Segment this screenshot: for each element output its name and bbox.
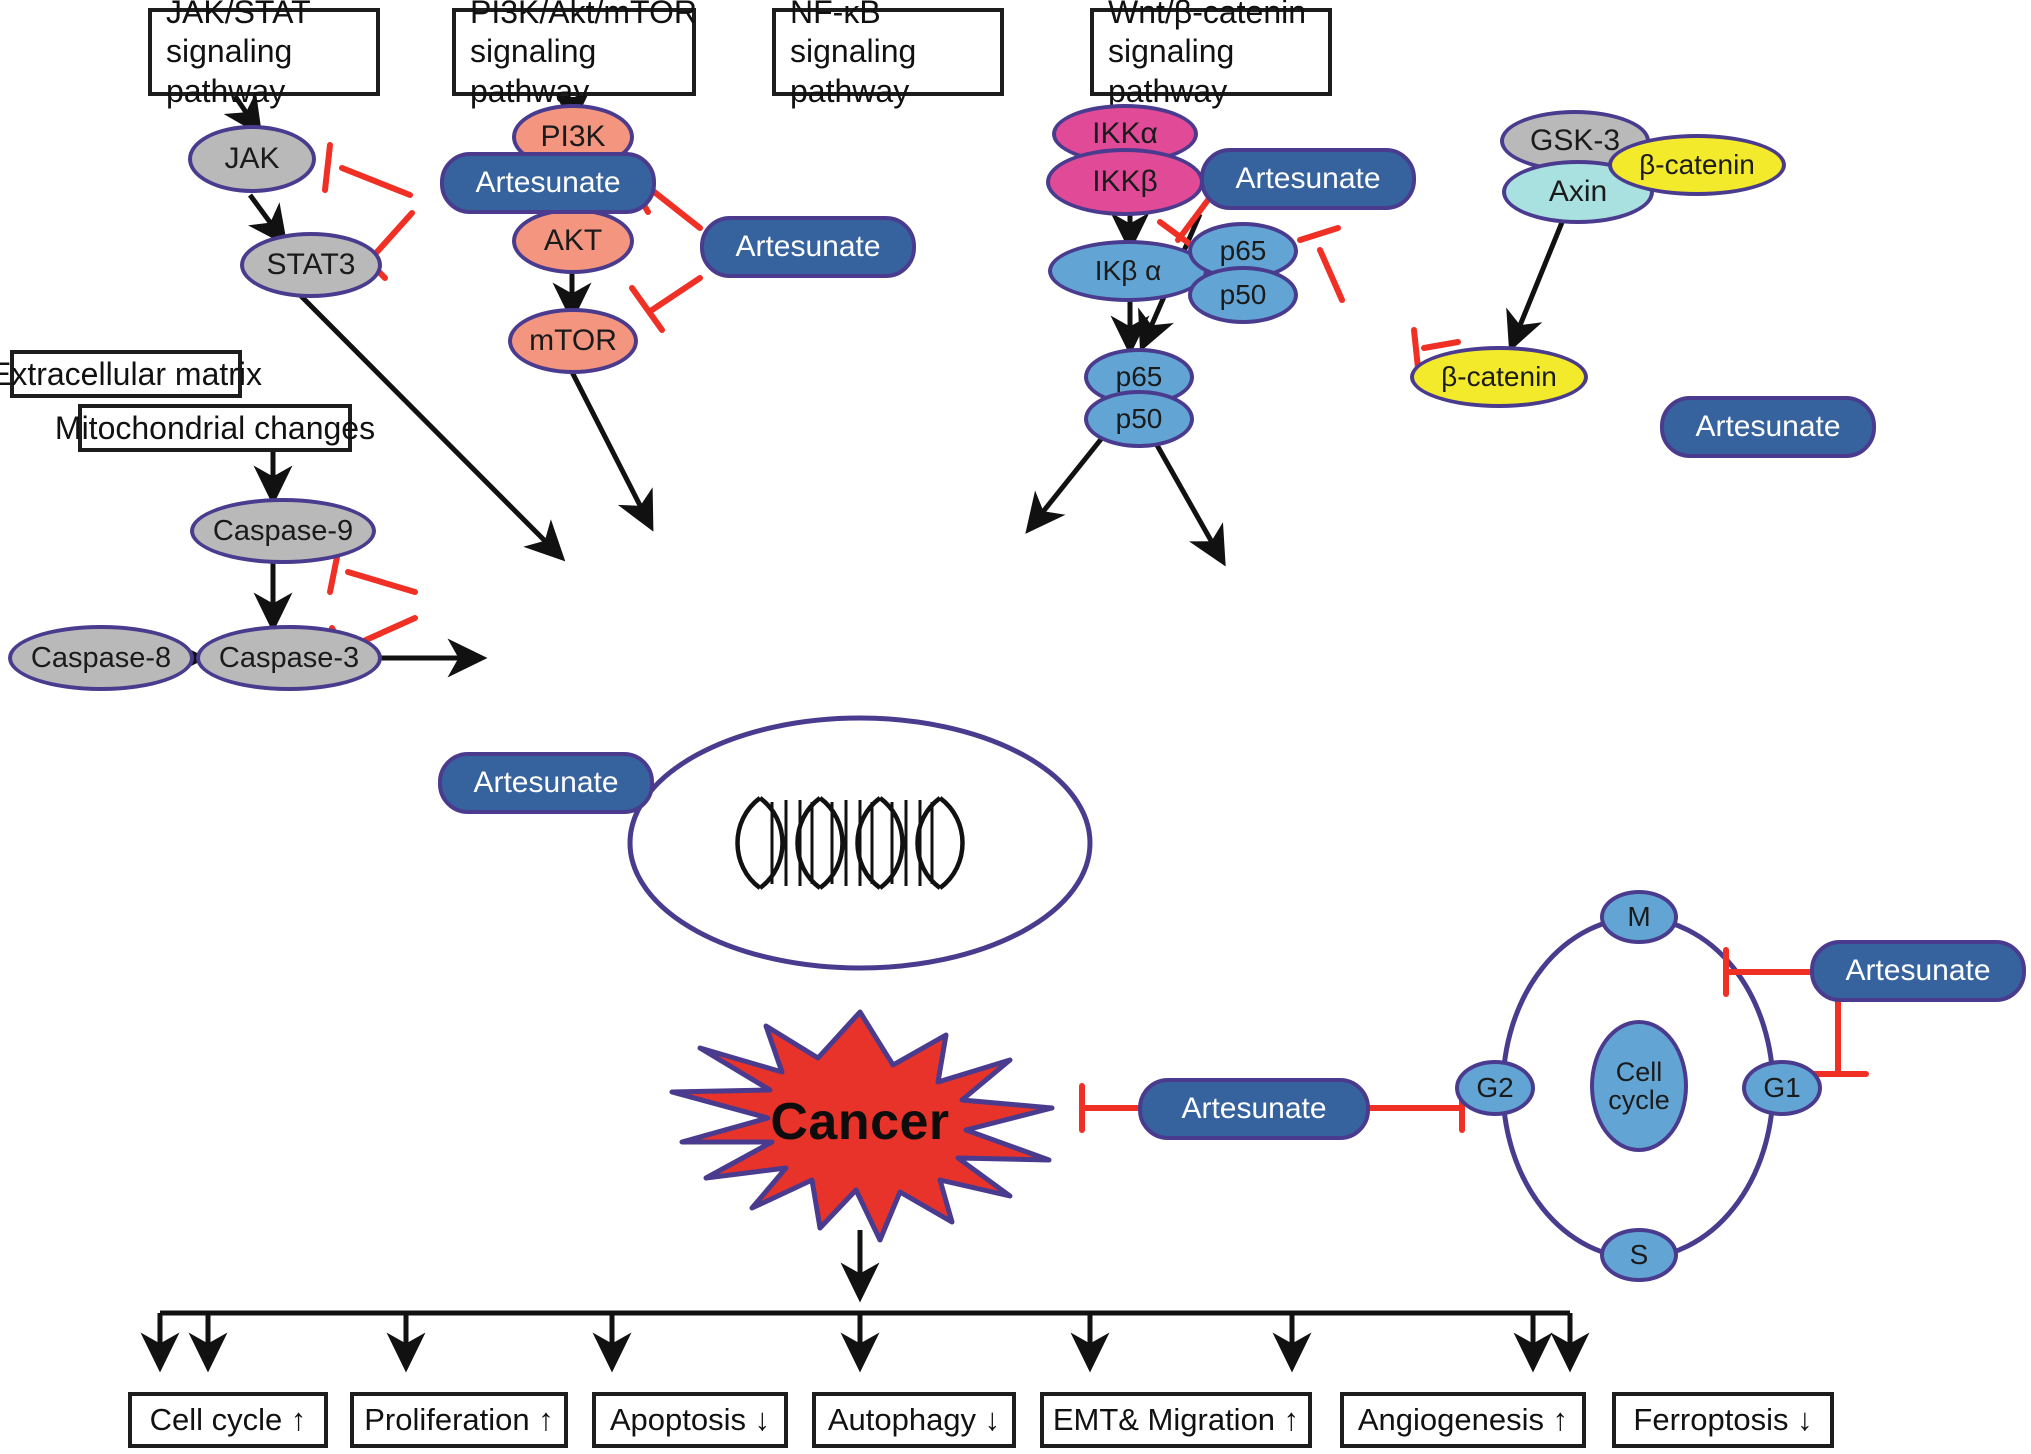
node-mtor: mTOR xyxy=(508,308,638,374)
node-p50-bound: p50 xyxy=(1188,266,1298,324)
pathway-title-line2: signaling pathway xyxy=(790,32,1000,110)
pathway-box-nfkb: NF-κB signaling pathway xyxy=(772,8,1004,96)
outcome-box-angiogenesis: Angiogenesis ↑ xyxy=(1340,1392,1586,1448)
pathway-box-wnt: Wnt/β-catenin signaling pathway xyxy=(1090,8,1332,96)
artesunate-box-pi3k[interactable]: Artesunate xyxy=(700,216,916,278)
node-jak: JAK xyxy=(188,125,316,193)
distribution-bar xyxy=(160,1313,1570,1330)
outcome-box-proliferation: Proliferation ↑ xyxy=(350,1392,568,1448)
cancer-label: Cancer xyxy=(740,1092,980,1152)
outcome-box-emt-migration: EMT& Migration ↑ xyxy=(1040,1392,1312,1448)
node-caspase-3: Caspase-3 xyxy=(196,625,382,691)
node-beta-catenin-free: β-catenin xyxy=(1410,346,1588,408)
node-akt: AKT xyxy=(512,208,634,274)
pathway-title-line1: NF-κB xyxy=(790,0,881,32)
node-ikb-alpha: IKβ α xyxy=(1048,240,1208,302)
node-phase-m: M xyxy=(1600,890,1678,944)
node-caspase-8: Caspase-8 xyxy=(8,625,194,691)
artesunate-box-jakstat[interactable]: Artesunate xyxy=(440,152,656,214)
pathway-title-line2: signaling pathway xyxy=(470,32,692,110)
outcome-box-ferroptosis: Ferroptosis ↓ xyxy=(1612,1392,1834,1448)
source-box-mitochondrial-changes: Mitochondrial changes xyxy=(78,404,352,452)
pathway-box-pi3k: PI3K/Akt/mTOR signaling pathway xyxy=(452,8,696,96)
artesunate-box-cancer[interactable]: Artesunate xyxy=(1138,1078,1370,1140)
pathway-title-line1: JAK/STAT xyxy=(166,0,311,32)
node-cell-cycle-center: Cell cycle xyxy=(1590,1020,1688,1152)
outcome-box-apoptosis: Apoptosis ↓ xyxy=(592,1392,788,1448)
diagram-vector-layer xyxy=(0,0,2031,1454)
cell-cycle-center-line2: cycle xyxy=(1608,1086,1670,1114)
outcome-box-autophagy: Autophagy ↓ xyxy=(812,1392,1016,1448)
source-box-extracellular-matrix: Extracellular matrix xyxy=(10,350,242,398)
pathway-title-line1: PI3K/Akt/mTOR xyxy=(470,0,697,32)
node-phase-g1: G1 xyxy=(1742,1060,1822,1116)
pathway-diagram: JAK/STAT signaling pathway PI3K/Akt/mTOR… xyxy=(0,0,2031,1454)
artesunate-box-cellcycle[interactable]: Artesunate xyxy=(1810,940,2026,1002)
pathway-title-line2: signaling pathway xyxy=(166,32,376,110)
outcome-box-cell-cycle: Cell cycle ↑ xyxy=(128,1392,328,1448)
node-phase-g2: G2 xyxy=(1455,1060,1535,1116)
pathway-title-line1: Wnt/β-catenin xyxy=(1108,0,1306,32)
node-phase-s: S xyxy=(1600,1228,1678,1282)
cell-cycle-center-line1: Cell xyxy=(1616,1058,1663,1086)
pathway-title-line2: signaling pathway xyxy=(1108,32,1328,110)
node-p50-free: p50 xyxy=(1084,390,1194,448)
artesunate-box-wnt[interactable]: Artesunate xyxy=(1660,396,1876,458)
node-caspase-9: Caspase-9 xyxy=(190,498,376,564)
artesunate-box-caspase[interactable]: Artesunate xyxy=(438,752,654,814)
node-ikk-beta: IKKβ xyxy=(1046,148,1204,216)
pathway-box-jakstat: JAK/STAT signaling pathway xyxy=(148,8,380,96)
node-beta-catenin-bound: β-catenin xyxy=(1608,134,1786,196)
node-stat3: STAT3 xyxy=(240,232,382,298)
artesunate-box-nfkb[interactable]: Artesunate xyxy=(1200,148,1416,210)
